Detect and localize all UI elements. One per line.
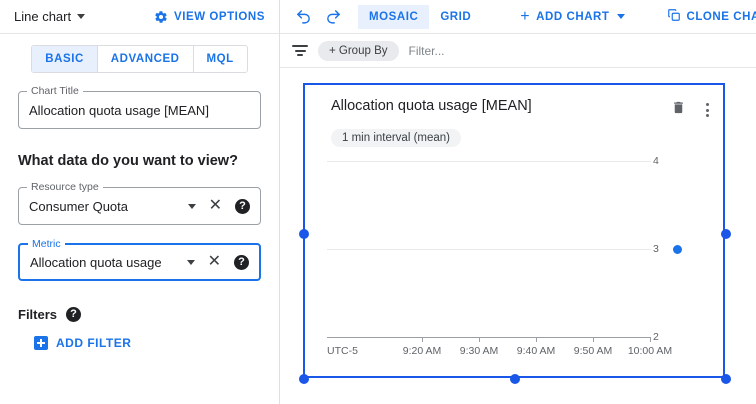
add-filter-button[interactable]: ADD FILTER — [34, 336, 261, 350]
clone-chart-button[interactable]: CLONE CHART — [659, 3, 756, 30]
redo-icon[interactable] — [318, 4, 348, 30]
interval-chip: 1 min interval (mean) — [331, 129, 461, 147]
view-options-button[interactable]: VIEW OPTIONS — [154, 10, 265, 24]
copy-icon — [667, 8, 681, 25]
chart-card-header: Allocation quota usage [MEAN] — [305, 85, 723, 120]
help-icon[interactable]: ? — [66, 307, 81, 322]
chart-type-label: Line chart — [14, 9, 71, 24]
chart-type-dropdown[interactable]: Line chart — [14, 9, 85, 24]
x-tick-2 — [536, 337, 537, 342]
chart-title-field[interactable]: Chart Title Allocation quota usage [MEAN… — [18, 91, 261, 129]
gridline-4 — [327, 161, 651, 162]
view-mode-toggle: MOSAIC GRID — [358, 5, 482, 29]
resize-handle-bottom-left[interactable] — [299, 374, 309, 384]
metric-value: Allocation quota usage — [30, 255, 181, 270]
x-tick-0 — [422, 337, 423, 342]
view-mode-mosaic[interactable]: MOSAIC — [358, 5, 429, 29]
gear-icon — [154, 10, 168, 24]
chart-plot-area: 4 3 2 UTC-5 9:20 AM 9:30 AM 9:40 AM 9:50… — [327, 161, 709, 353]
chevron-down-icon — [77, 14, 85, 19]
timezone-label: UTC-5 — [327, 345, 358, 357]
charts-canvas: Allocation quota usage [MEAN] 1 min inte… — [280, 68, 756, 404]
metric-icons: ✕ ? — [181, 254, 249, 270]
filters-heading: Filters ? — [18, 307, 261, 322]
group-by-chip[interactable]: + Group By — [318, 41, 399, 61]
chart-title-legend: Chart Title — [27, 85, 83, 98]
x-tick-label-1: 9:30 AM — [460, 345, 499, 357]
y-tick-label-4: 4 — [653, 155, 667, 167]
chevron-down-icon[interactable] — [187, 260, 195, 265]
x-tick-4 — [650, 337, 651, 342]
chart-title-value: Allocation quota usage [MEAN] — [29, 103, 250, 118]
filters-label: Filters — [18, 307, 57, 322]
chart-editor-panel: Line chart VIEW OPTIONS BASIC ADVANCED M… — [0, 0, 280, 404]
x-tick-label-0: 9:20 AM — [403, 345, 442, 357]
clone-chart-label: CLONE CHART — [686, 11, 756, 23]
x-tick-label-2: 9:40 AM — [517, 345, 556, 357]
metric-legend: Metric — [28, 238, 65, 251]
tab-advanced[interactable]: ADVANCED — [98, 46, 194, 72]
filter-icon[interactable] — [292, 45, 308, 56]
resource-type-value: Consumer Quota — [29, 199, 182, 214]
chart-card[interactable]: Allocation quota usage [MEAN] 1 min inte… — [303, 83, 725, 378]
resize-handle-bottom-right[interactable] — [721, 374, 731, 384]
resize-handle-bottom-center[interactable] — [510, 374, 520, 384]
gridline-3 — [327, 249, 651, 250]
undo-icon[interactable] — [288, 4, 318, 30]
chart-card-title: Allocation quota usage [MEAN] — [331, 98, 671, 114]
chevron-down-icon[interactable] — [188, 204, 196, 209]
view-options-label: VIEW OPTIONS — [174, 11, 265, 23]
trash-icon[interactable] — [671, 100, 686, 120]
y-tick-label-3: 3 — [653, 243, 667, 255]
metric-field[interactable]: Metric Allocation quota usage ✕ ? — [18, 243, 261, 281]
editor-tabs-row: BASIC ADVANCED MQL — [0, 34, 279, 73]
chart-card-actions — [671, 98, 709, 120]
x-tick-label-4: 10:00 AM — [628, 345, 672, 357]
chevron-down-icon — [617, 14, 625, 19]
plus-icon — [34, 336, 48, 350]
view-mode-grid[interactable]: GRID — [429, 5, 482, 29]
filter-input[interactable]: Filter... — [409, 44, 445, 58]
tab-basic[interactable]: BASIC — [32, 46, 98, 72]
help-icon[interactable]: ? — [235, 199, 250, 214]
app-root: Line chart VIEW OPTIONS BASIC ADVANCED M… — [0, 0, 756, 404]
x-tick-3 — [593, 337, 594, 342]
resize-handle-right[interactable] — [721, 229, 731, 239]
y-tick-label-2: 2 — [653, 331, 667, 343]
editor-tabs: BASIC ADVANCED MQL — [31, 45, 247, 73]
add-chart-button[interactable]: + ADD CHART — [512, 4, 633, 30]
resource-type-legend: Resource type — [27, 181, 103, 194]
data-question-heading: What data do you want to view? — [18, 153, 261, 169]
x-tick-1 — [479, 337, 480, 342]
resource-type-icons: ✕ ? — [182, 198, 250, 214]
resize-handle-left[interactable] — [299, 229, 309, 239]
resource-type-field[interactable]: Resource type Consumer Quota ✕ ? — [18, 187, 261, 225]
tab-mql[interactable]: MQL — [194, 46, 247, 72]
close-icon[interactable]: ✕ — [209, 198, 222, 214]
help-icon[interactable]: ? — [234, 255, 249, 270]
dashboard-filter-bar: + Group By Filter... — [280, 34, 756, 68]
editor-body: Chart Title Allocation quota usage [MEAN… — [0, 91, 279, 350]
close-icon[interactable]: ✕ — [208, 254, 221, 270]
x-tick-label-3: 9:50 AM — [574, 345, 613, 357]
data-point[interactable] — [673, 245, 682, 254]
add-chart-label: ADD CHART — [536, 11, 609, 23]
dashboard-area: MOSAIC GRID + ADD CHART CLONE CHART + Gr… — [280, 0, 756, 404]
add-filter-label: ADD FILTER — [56, 336, 131, 350]
x-axis-line — [327, 337, 651, 338]
plus-icon: + — [520, 9, 530, 25]
panel-header: Line chart VIEW OPTIONS — [0, 0, 279, 34]
dashboard-toolbar: MOSAIC GRID + ADD CHART CLONE CHART — [280, 0, 756, 34]
more-vertical-icon[interactable] — [706, 103, 709, 117]
